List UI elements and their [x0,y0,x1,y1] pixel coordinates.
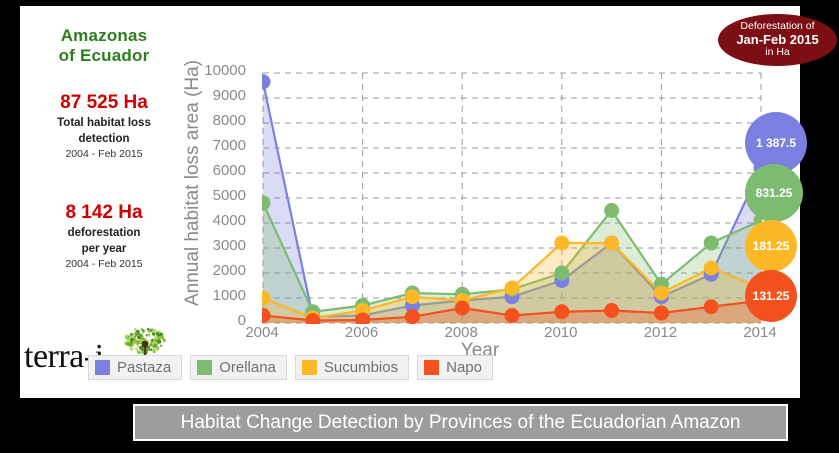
badge-value-pastaza: 1 387.5 [756,136,796,150]
legend-label-sucumbios: Sucumbios [324,359,398,376]
data-point-orellana-2013[interactable] [704,236,719,251]
data-point-napo-2011[interactable] [604,303,619,318]
plot-area [262,72,760,322]
badge-column: 1 387.5831.25181.25131.25 [745,62,833,322]
legend-swatch-sucumbios [302,360,317,375]
deforestation-callout: Deforestation of Jan-Feb 2015 in Ha [718,14,837,66]
y-tick-label: 10000 [204,62,246,79]
legend-item-napo[interactable]: Napo [417,355,493,380]
data-point-napo-2010[interactable] [554,304,569,319]
data-point-orellana-2011[interactable] [604,203,619,218]
y-axis-ticks: 0100020003000400050006000700080009000100… [160,10,260,340]
y-tick-label: 8000 [213,112,246,129]
infographic-root: Amazonas of Ecuador 87 525 Ha Total habi… [0,0,839,453]
data-point-sucumbios-2007[interactable] [405,289,420,304]
legend-label-napo: Napo [446,359,482,376]
data-point-napo-2008[interactable] [455,301,470,316]
x-tick-label: 2014 [743,324,776,341]
badge-orellana: 831.25 [745,164,803,222]
badge-sucumbios: 181.25 [745,220,797,272]
data-point-napo-2012[interactable] [654,306,669,321]
data-point-napo-2009[interactable] [505,308,520,323]
data-point-pastaza-2004[interactable] [262,74,271,89]
data-point-sucumbios-2013[interactable] [704,261,719,276]
chart: Annual habitat loss area (Ha) Year 01000… [160,10,780,400]
y-tick-label: 3000 [213,237,246,254]
data-point-orellana-2010[interactable] [554,266,569,281]
y-tick-label: 9000 [213,87,246,104]
callout-line2: Jan-Feb 2015 [736,33,818,48]
data-point-napo-2007[interactable] [405,309,420,324]
y-tick-label: 6000 [213,162,246,179]
callout-line1: Deforestation of [740,21,814,33]
y-tick-label: 2000 [213,262,246,279]
y-tick-label: 1000 [213,287,246,304]
y-tick-label: 4000 [213,212,246,229]
x-tick-label: 2012 [644,324,677,341]
x-tick-label: 2010 [544,324,577,341]
legend-item-sucumbios[interactable]: Sucumbios [295,355,409,380]
y-tick-label: 5000 [213,187,246,204]
badge-value-napo: 131.25 [753,289,790,303]
badge-value-orellana: 831.25 [756,186,793,200]
legend-item-pastaza[interactable]: Pastaza [88,355,182,380]
chart-legend: PastazaOrellanaSucumbiosNapo [88,355,493,380]
plot-svg [262,72,762,324]
data-point-sucumbios-2009[interactable] [505,281,520,296]
footer-title-bar: Habitat Change Detection by Provinces of… [133,404,788,441]
legend-swatch-napo [424,360,439,375]
legend-item-orellana[interactable]: Orellana [190,355,287,380]
x-tick-label: 2006 [345,324,378,341]
data-point-napo-2013[interactable] [704,299,719,314]
x-tick-label: 2004 [245,324,278,341]
legend-swatch-orellana [197,360,212,375]
badge-napo: 131.25 [745,270,797,322]
legend-label-pastaza: Pastaza [117,359,171,376]
legend-swatch-pastaza [95,360,110,375]
data-point-sucumbios-2010[interactable] [554,236,569,251]
footer-title-text: Habitat Change Detection by Provinces of… [181,412,741,434]
data-point-sucumbios-2012[interactable] [654,286,669,301]
x-tick-label: 2008 [445,324,478,341]
y-tick-label: 7000 [213,137,246,154]
callout-line3: in Ha [765,47,790,59]
legend-label-orellana: Orellana [219,359,276,376]
data-point-sucumbios-2011[interactable] [604,236,619,251]
badge-value-sucumbios: 181.25 [753,239,790,253]
